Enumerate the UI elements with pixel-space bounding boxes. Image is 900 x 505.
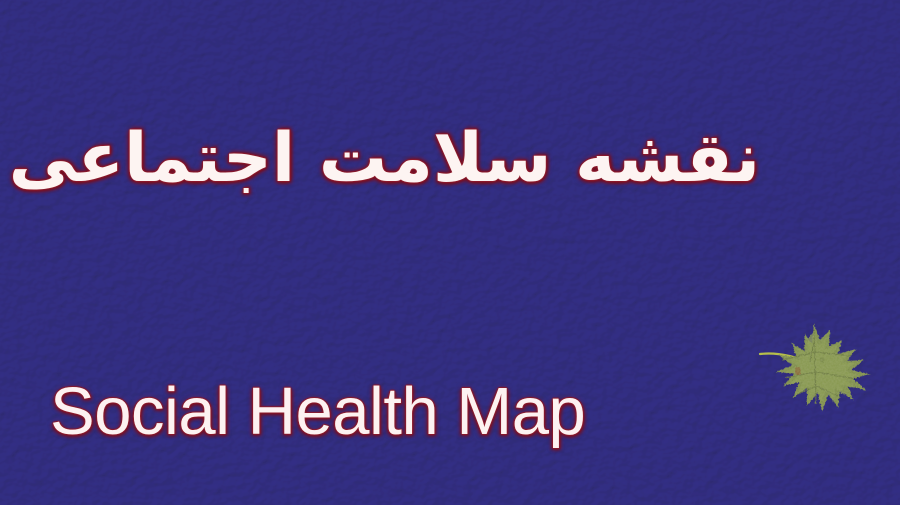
title-block: نقشه سلامت اجتماعی Social Health Map [0,0,900,505]
page-title-english: Social Health Map [50,378,585,445]
title-slide: نقشه سلامت اجتماعی Social Health Map [0,0,900,505]
page-title-persian: نقشه سلامت اجتماعی [60,118,760,201]
maple-leaf-icon [752,316,897,424]
